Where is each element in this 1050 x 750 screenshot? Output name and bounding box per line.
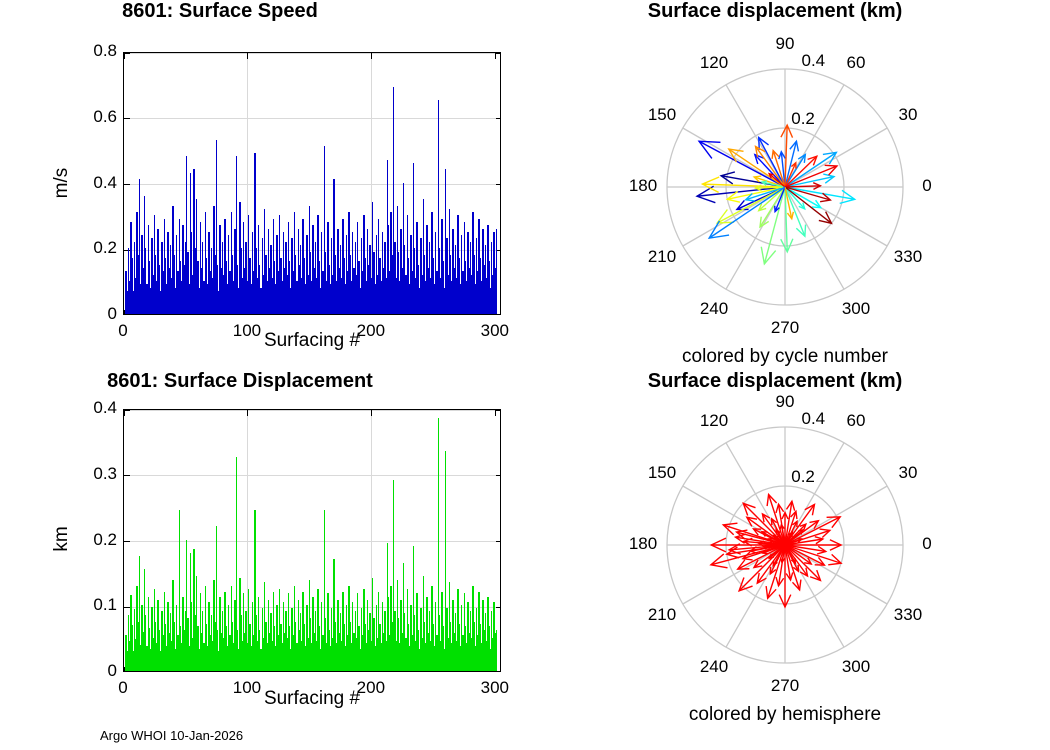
- polar-plot-hemisphere: 03060901201501802102402703003300.20.4: [635, 410, 935, 680]
- x-tick-label: 200: [341, 678, 401, 698]
- polar-r-label-0-4: 0.4: [801, 409, 825, 429]
- polar-theta-label-300: 300: [831, 657, 881, 677]
- figure-credit: Argo WHOI 10-Jan-2026: [100, 728, 243, 743]
- x-tick-label: 0: [93, 678, 153, 698]
- polar-theta-label-240: 240: [689, 299, 739, 319]
- x-tick-label: 300: [465, 321, 525, 341]
- panel-title-polar-hemisphere: Surface displacement (km): [520, 370, 1030, 393]
- polar-theta-label-210: 210: [637, 247, 687, 267]
- polar-theta-label-30: 30: [883, 105, 933, 125]
- panel-surface-speed: 8601: Surface Speed m/s Surfacing # 00.2…: [0, 0, 520, 370]
- bar: [496, 630, 497, 671]
- y-tick-label: 0.1: [71, 595, 117, 615]
- y-tick-label: 0.4: [71, 398, 117, 418]
- caption-polar-hemisphere: colored by hemisphere: [530, 704, 1040, 726]
- panel-polar-cycle: Surface displacement (km) 03060901201501…: [520, 0, 1050, 370]
- polar-plot-cycle-number: 03060901201501802102402703003300.20.4: [635, 52, 935, 322]
- polar-theta-label-0: 0: [902, 176, 952, 196]
- panel-title-surface-speed: 8601: Surface Speed: [0, 0, 440, 23]
- polar-theta-label-60: 60: [831, 411, 881, 431]
- x-tick-label: 100: [217, 678, 277, 698]
- x-axis-label-speed: Surfacing #: [123, 330, 501, 352]
- polar-r-label-0-2: 0.2: [791, 109, 815, 129]
- panel-title-surface-displacement: 8601: Surface Displacement: [0, 370, 480, 393]
- polar-theta-label-0: 0: [902, 534, 952, 554]
- polar-theta-label-30: 30: [883, 463, 933, 483]
- polar-theta-label-120: 120: [689, 411, 739, 431]
- x-tick-label: 200: [341, 321, 401, 341]
- y-tick-label: 0.6: [71, 107, 117, 127]
- polar-grid: [635, 410, 935, 680]
- plot-area-surface-speed: [123, 52, 501, 315]
- polar-theta-label-180: 180: [618, 176, 668, 196]
- polar-theta-label-210: 210: [637, 605, 687, 625]
- y-axis-label-displacement: km: [51, 509, 73, 569]
- y-tick-label: 0.3: [71, 464, 117, 484]
- y-axis-label-speed: m/s: [51, 153, 73, 213]
- polar-theta-label-150: 150: [637, 463, 687, 483]
- caption-polar-cycle: colored by cycle number: [530, 346, 1040, 368]
- panel-title-polar-cycle: Surface displacement (km): [520, 0, 1030, 23]
- panel-surface-displacement: 8601: Surface Displacement km Surfacing …: [0, 370, 520, 750]
- x-axis-label-displacement: Surfacing #: [123, 688, 501, 710]
- bar-series: [124, 53, 500, 314]
- polar-theta-label-300: 300: [831, 299, 881, 319]
- figure-canvas: 8601: Surface Speed m/s Surfacing # 00.2…: [0, 0, 1050, 750]
- polar-theta-label-240: 240: [689, 657, 739, 677]
- bar: [496, 229, 497, 314]
- y-tick-label: 0.8: [71, 41, 117, 61]
- polar-theta-label-60: 60: [831, 53, 881, 73]
- x-tick-label: 300: [465, 678, 525, 698]
- polar-theta-label-180: 180: [618, 534, 668, 554]
- polar-theta-label-120: 120: [689, 53, 739, 73]
- polar-grid: [635, 52, 935, 322]
- y-tick-label: 0.2: [71, 238, 117, 258]
- polar-theta-label-330: 330: [883, 605, 933, 625]
- bar-series: [124, 410, 500, 671]
- x-tick-label: 0: [93, 321, 153, 341]
- polar-theta-label-270: 270: [760, 318, 810, 338]
- x-tick-label: 100: [217, 321, 277, 341]
- polar-theta-label-150: 150: [637, 105, 687, 125]
- y-tick-label: 0.2: [71, 530, 117, 550]
- polar-r-label-0-2: 0.2: [791, 467, 815, 487]
- polar-theta-label-330: 330: [883, 247, 933, 267]
- polar-r-label-0-4: 0.4: [801, 51, 825, 71]
- panel-polar-hemisphere: Surface displacement (km) 03060901201501…: [520, 370, 1050, 750]
- polar-theta-label-270: 270: [760, 676, 810, 696]
- y-tick-label: 0.4: [71, 173, 117, 193]
